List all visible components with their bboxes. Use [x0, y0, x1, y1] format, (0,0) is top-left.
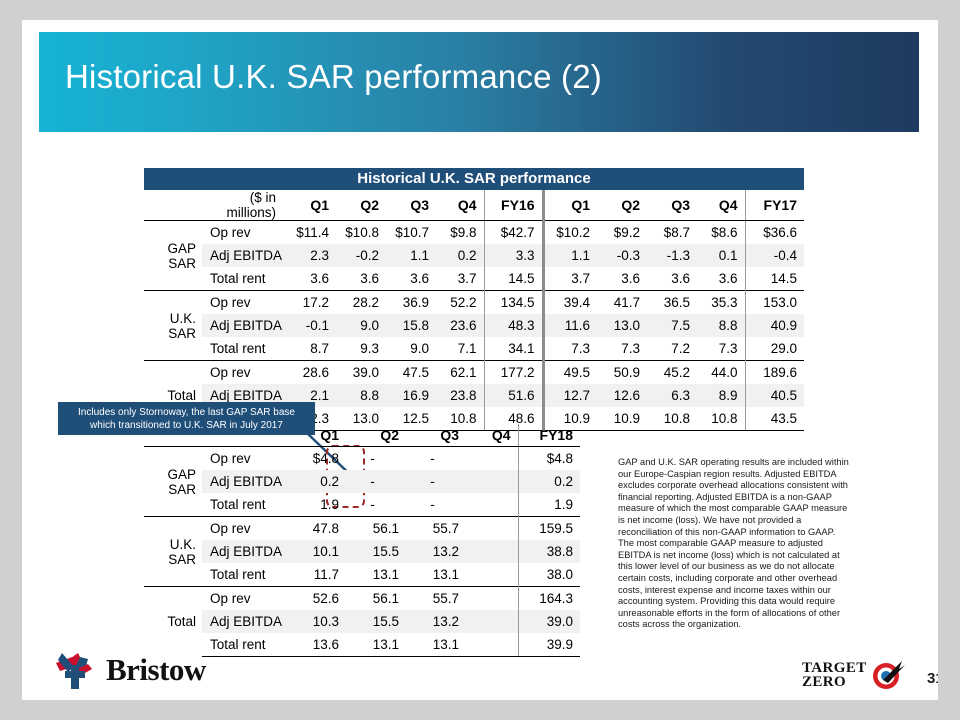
table-row: Adj EBITDA2.3-0.21.10.23.31.1-0.3-1.30.1…	[144, 244, 804, 267]
cell-value: 8.7	[286, 337, 336, 361]
group-label-gapsar: GAP SAR	[144, 447, 202, 517]
cell-value: 3.7	[436, 267, 484, 291]
cell-value: 13.0	[597, 314, 647, 337]
cell-value: 14.5	[745, 267, 804, 291]
cell-value: 62.1	[436, 361, 484, 385]
cell-value: 10.8	[697, 407, 745, 431]
table-row: Adj EBITDA10.115.513.238.8	[144, 540, 580, 563]
table-row: Total rent11.713.113.138.0	[144, 563, 580, 587]
table-banner: Historical U.K. SAR performance	[144, 168, 804, 190]
cell-value: 10.9	[597, 407, 647, 431]
table-row: Total rent3.63.63.63.714.53.73.63.63.614…	[144, 267, 804, 291]
table-row: U.K. SAROp rev17.228.236.952.2134.539.44…	[144, 291, 804, 315]
metric-label: Adj EBITDA	[202, 610, 286, 633]
cell-value: 3.6	[386, 267, 436, 291]
cell-value: 7.3	[543, 337, 597, 361]
page-number: 31	[927, 670, 938, 687]
table-header-row: ($ in millions)Q1Q2Q3Q4FY16Q1Q2Q3Q4FY17	[144, 190, 804, 221]
cell-value: 8.9	[697, 384, 745, 407]
table-row: TotalOp rev28.639.047.562.1177.249.550.9…	[144, 361, 804, 385]
cell-value: 39.0	[336, 361, 386, 385]
page-title: Historical U.K. SAR performance (2)	[65, 58, 602, 96]
cell-value: 50.9	[597, 361, 647, 385]
cell-value: 11.7	[286, 563, 346, 587]
cell-value: 3.7	[543, 267, 597, 291]
metric-label: Adj EBITDA	[202, 314, 286, 337]
cell-value: 35.3	[697, 291, 745, 315]
column-header-q3-fy18: Q3	[406, 424, 466, 447]
cell-value: 1.1	[543, 244, 597, 267]
group-label-total: Total	[144, 587, 202, 657]
cell-value: 7.1	[436, 337, 484, 361]
column-header-q3-fy17: Q3	[647, 190, 697, 221]
cell-value: 7.5	[647, 314, 697, 337]
cell-value: 40.9	[745, 314, 804, 337]
cell-value: 55.7	[406, 517, 466, 541]
cell-value: 39.9	[518, 633, 580, 657]
metric-label: Adj EBITDA	[202, 244, 286, 267]
column-header-q1-fy18: Q1	[286, 424, 346, 447]
metric-label: Total rent	[202, 493, 286, 517]
cell-value: 44.0	[697, 361, 745, 385]
cell-value: 36.5	[647, 291, 697, 315]
cell-value: 164.3	[518, 587, 580, 611]
column-header-q4-fy18: Q4	[466, 424, 518, 447]
historical-performance-table-fy18: Q1Q2Q3Q4FY18GAP SAROp rev$4.8--$4.8Adj E…	[144, 424, 580, 657]
cell-value: $11.4	[286, 221, 336, 245]
cell-value: 3.6	[597, 267, 647, 291]
cell-value: $10.8	[336, 221, 386, 245]
cell-value: 13.1	[406, 633, 466, 657]
cell-value: 0.1	[697, 244, 745, 267]
cell-value: -	[346, 470, 406, 493]
table-row: TotalOp rev52.656.155.7164.3	[144, 587, 580, 611]
cell-value: 13.2	[406, 610, 466, 633]
bristow-wordmark: Bristow	[106, 652, 206, 688]
cell-value: 39.0	[518, 610, 580, 633]
cell-value: -0.4	[745, 244, 804, 267]
cell-value: 41.7	[597, 291, 647, 315]
cell-value: 1.9	[518, 493, 580, 517]
cell-value: 0.2	[518, 470, 580, 493]
header-spacer	[144, 424, 202, 447]
cell-value: 3.6	[697, 267, 745, 291]
cell-value	[466, 447, 518, 471]
cell-value: 17.2	[286, 291, 336, 315]
cell-value: 14.5	[484, 267, 543, 291]
cell-value: -	[346, 493, 406, 517]
cell-value: 9.0	[336, 314, 386, 337]
cell-value: 12.6	[597, 384, 647, 407]
cell-value: 177.2	[484, 361, 543, 385]
cell-value: 11.6	[543, 314, 597, 337]
cell-value: 13.1	[346, 563, 406, 587]
cell-value: 9.0	[386, 337, 436, 361]
cell-value: $42.7	[484, 221, 543, 245]
cell-value: 3.6	[647, 267, 697, 291]
cell-value: 47.5	[386, 361, 436, 385]
cell-value: 56.1	[346, 587, 406, 611]
cell-value: -1.3	[647, 244, 697, 267]
cell-value: 10.8	[647, 407, 697, 431]
metric-label: Op rev	[202, 291, 286, 315]
cell-value: 15.5	[346, 540, 406, 563]
cell-value: 134.5	[484, 291, 543, 315]
cell-value: 13.6	[286, 633, 346, 657]
cell-value: 49.5	[543, 361, 597, 385]
cell-value: 0.2	[436, 244, 484, 267]
cell-value: 10.1	[286, 540, 346, 563]
group-label-gapsar: GAP SAR	[144, 221, 202, 291]
cell-value: 159.5	[518, 517, 580, 541]
cell-value: $8.7	[647, 221, 697, 245]
table-row: Adj EBITDA-0.19.015.823.648.311.613.07.5…	[144, 314, 804, 337]
cell-value	[466, 470, 518, 493]
column-header-fy16-fy16: FY16	[484, 190, 543, 221]
cell-value: 13.1	[406, 563, 466, 587]
footnote-text: GAP and U.K. SAR operating results are i…	[618, 457, 850, 631]
cell-value: -0.1	[286, 314, 336, 337]
target-bullseye-icon	[869, 658, 907, 692]
column-header-q2-fy18: Q2	[346, 424, 406, 447]
cell-value: -	[406, 493, 466, 517]
cell-value: $8.6	[697, 221, 745, 245]
cell-value	[466, 610, 518, 633]
group-label-uksar: U.K. SAR	[144, 517, 202, 587]
cell-value: 23.6	[436, 314, 484, 337]
historical-performance-table-fy16-fy17: Historical U.K. SAR performance($ in mil…	[144, 168, 804, 431]
column-header-q4-fy16: Q4	[436, 190, 484, 221]
cell-value: 40.5	[745, 384, 804, 407]
cell-value	[466, 540, 518, 563]
table-header-row: Q1Q2Q3Q4FY18	[144, 424, 580, 447]
table-row: GAP SAROp rev$11.4$10.8$10.7$9.8$42.7$10…	[144, 221, 804, 245]
cell-value: 2.3	[286, 244, 336, 267]
zero-word: ZERO	[802, 675, 867, 689]
cell-value: 51.6	[484, 384, 543, 407]
metric-label: Op rev	[202, 517, 286, 541]
header-spacer-2	[202, 424, 286, 447]
target-word: TARGET	[802, 661, 867, 675]
cell-value: 8.8	[697, 314, 745, 337]
table-row: Adj EBITDA10.315.513.239.0	[144, 610, 580, 633]
cell-value: 48.3	[484, 314, 543, 337]
cell-value	[466, 587, 518, 611]
metric-label: Total rent	[202, 563, 286, 587]
metric-label: Op rev	[202, 587, 286, 611]
group-label-uksar: U.K. SAR	[144, 291, 202, 361]
cell-value: -0.3	[597, 244, 647, 267]
cell-value: 6.3	[647, 384, 697, 407]
cell-value: 56.1	[346, 517, 406, 541]
table-row: U.K. SAROp rev47.856.155.7159.5	[144, 517, 580, 541]
cell-value: $10.7	[386, 221, 436, 245]
cell-value: -	[406, 470, 466, 493]
cell-value: $9.2	[597, 221, 647, 245]
cell-value: 10.3	[286, 610, 346, 633]
column-header-q3-fy16: Q3	[386, 190, 436, 221]
metric-label: Total rent	[202, 267, 286, 291]
cell-value: 34.1	[484, 337, 543, 361]
metric-label: Op rev	[202, 221, 286, 245]
cell-value: 39.4	[543, 291, 597, 315]
metric-label: Op rev	[202, 361, 286, 385]
column-header-fy18-fy18: FY18	[518, 424, 580, 447]
bristow-logo: Bristow	[54, 651, 206, 689]
cell-value: 38.8	[518, 540, 580, 563]
table-row: GAP SAROp rev$4.8--$4.8	[144, 447, 580, 471]
cell-value: 43.5	[745, 407, 804, 431]
table-row: Adj EBITDA0.2--0.2	[144, 470, 580, 493]
cell-value: 15.8	[386, 314, 436, 337]
cell-value: $9.8	[436, 221, 484, 245]
cell-value: 16.9	[386, 384, 436, 407]
table-row: Total rent13.613.113.139.9	[144, 633, 580, 657]
cell-value: 9.3	[336, 337, 386, 361]
cell-value: $10.2	[543, 221, 597, 245]
cell-value: 28.2	[336, 291, 386, 315]
cell-value: 8.8	[336, 384, 386, 407]
cell-value: 1.1	[386, 244, 436, 267]
cell-value: 3.3	[484, 244, 543, 267]
metric-label: Adj EBITDA	[202, 470, 286, 493]
cell-value: 52.2	[436, 291, 484, 315]
table-row: Total rent1.9--1.9	[144, 493, 580, 517]
cell-value: $4.8	[518, 447, 580, 471]
metric-label: Adj EBITDA	[202, 540, 286, 563]
cell-value	[466, 517, 518, 541]
cell-value: 28.6	[286, 361, 336, 385]
cell-value: 7.3	[697, 337, 745, 361]
slide-canvas: Historical U.K. SAR performance (2) Hist…	[22, 20, 938, 700]
cell-value: 7.2	[647, 337, 697, 361]
cell-value: 3.6	[336, 267, 386, 291]
target-zero-logo: TARGET ZERO	[802, 658, 907, 692]
callout-line-1: Includes only Stornoway, the last GAP SA…	[58, 407, 315, 420]
column-header-q2-fy16: Q2	[336, 190, 386, 221]
cell-value	[466, 633, 518, 657]
column-header-fy17-fy17: FY17	[745, 190, 804, 221]
table-banner-row: Historical U.K. SAR performance	[144, 168, 804, 190]
cell-value: 52.6	[286, 587, 346, 611]
column-header-q1-fy17: Q1	[543, 190, 597, 221]
cell-value: 55.7	[406, 587, 466, 611]
cell-value: 7.3	[597, 337, 647, 361]
cell-value: 1.9	[286, 493, 346, 517]
cell-value: -	[406, 447, 466, 471]
cell-value: 189.6	[745, 361, 804, 385]
cell-value: 15.5	[346, 610, 406, 633]
cell-value: 12.7	[543, 384, 597, 407]
cell-value: 153.0	[745, 291, 804, 315]
cell-value: $4.8	[286, 447, 346, 471]
cell-value: 0.2	[286, 470, 346, 493]
cell-value: 45.2	[647, 361, 697, 385]
cell-value: 29.0	[745, 337, 804, 361]
cell-value: 36.9	[386, 291, 436, 315]
unit-label: ($ in millions)	[202, 190, 286, 221]
table-row: Total rent8.79.39.07.134.17.37.37.27.329…	[144, 337, 804, 361]
title-banner: Historical U.K. SAR performance (2)	[39, 32, 919, 132]
cell-value: $36.6	[745, 221, 804, 245]
cell-value: 13.2	[406, 540, 466, 563]
metric-label: Total rent	[202, 337, 286, 361]
cell-value	[466, 493, 518, 517]
cell-value: 23.8	[436, 384, 484, 407]
bristow-pinwheel-icon	[54, 651, 98, 689]
cell-value: 38.0	[518, 563, 580, 587]
metric-label: Total rent	[202, 633, 286, 657]
cell-value: -0.2	[336, 244, 386, 267]
column-header-q2-fy17: Q2	[597, 190, 647, 221]
column-header-q1-fy16: Q1	[286, 190, 336, 221]
cell-value: -	[346, 447, 406, 471]
metric-label: Op rev	[202, 447, 286, 471]
cell-value: 13.1	[346, 633, 406, 657]
column-header-q4-fy17: Q4	[697, 190, 745, 221]
cell-value: 3.6	[286, 267, 336, 291]
cell-value	[466, 563, 518, 587]
cell-value: 47.8	[286, 517, 346, 541]
header-spacer	[144, 190, 202, 221]
